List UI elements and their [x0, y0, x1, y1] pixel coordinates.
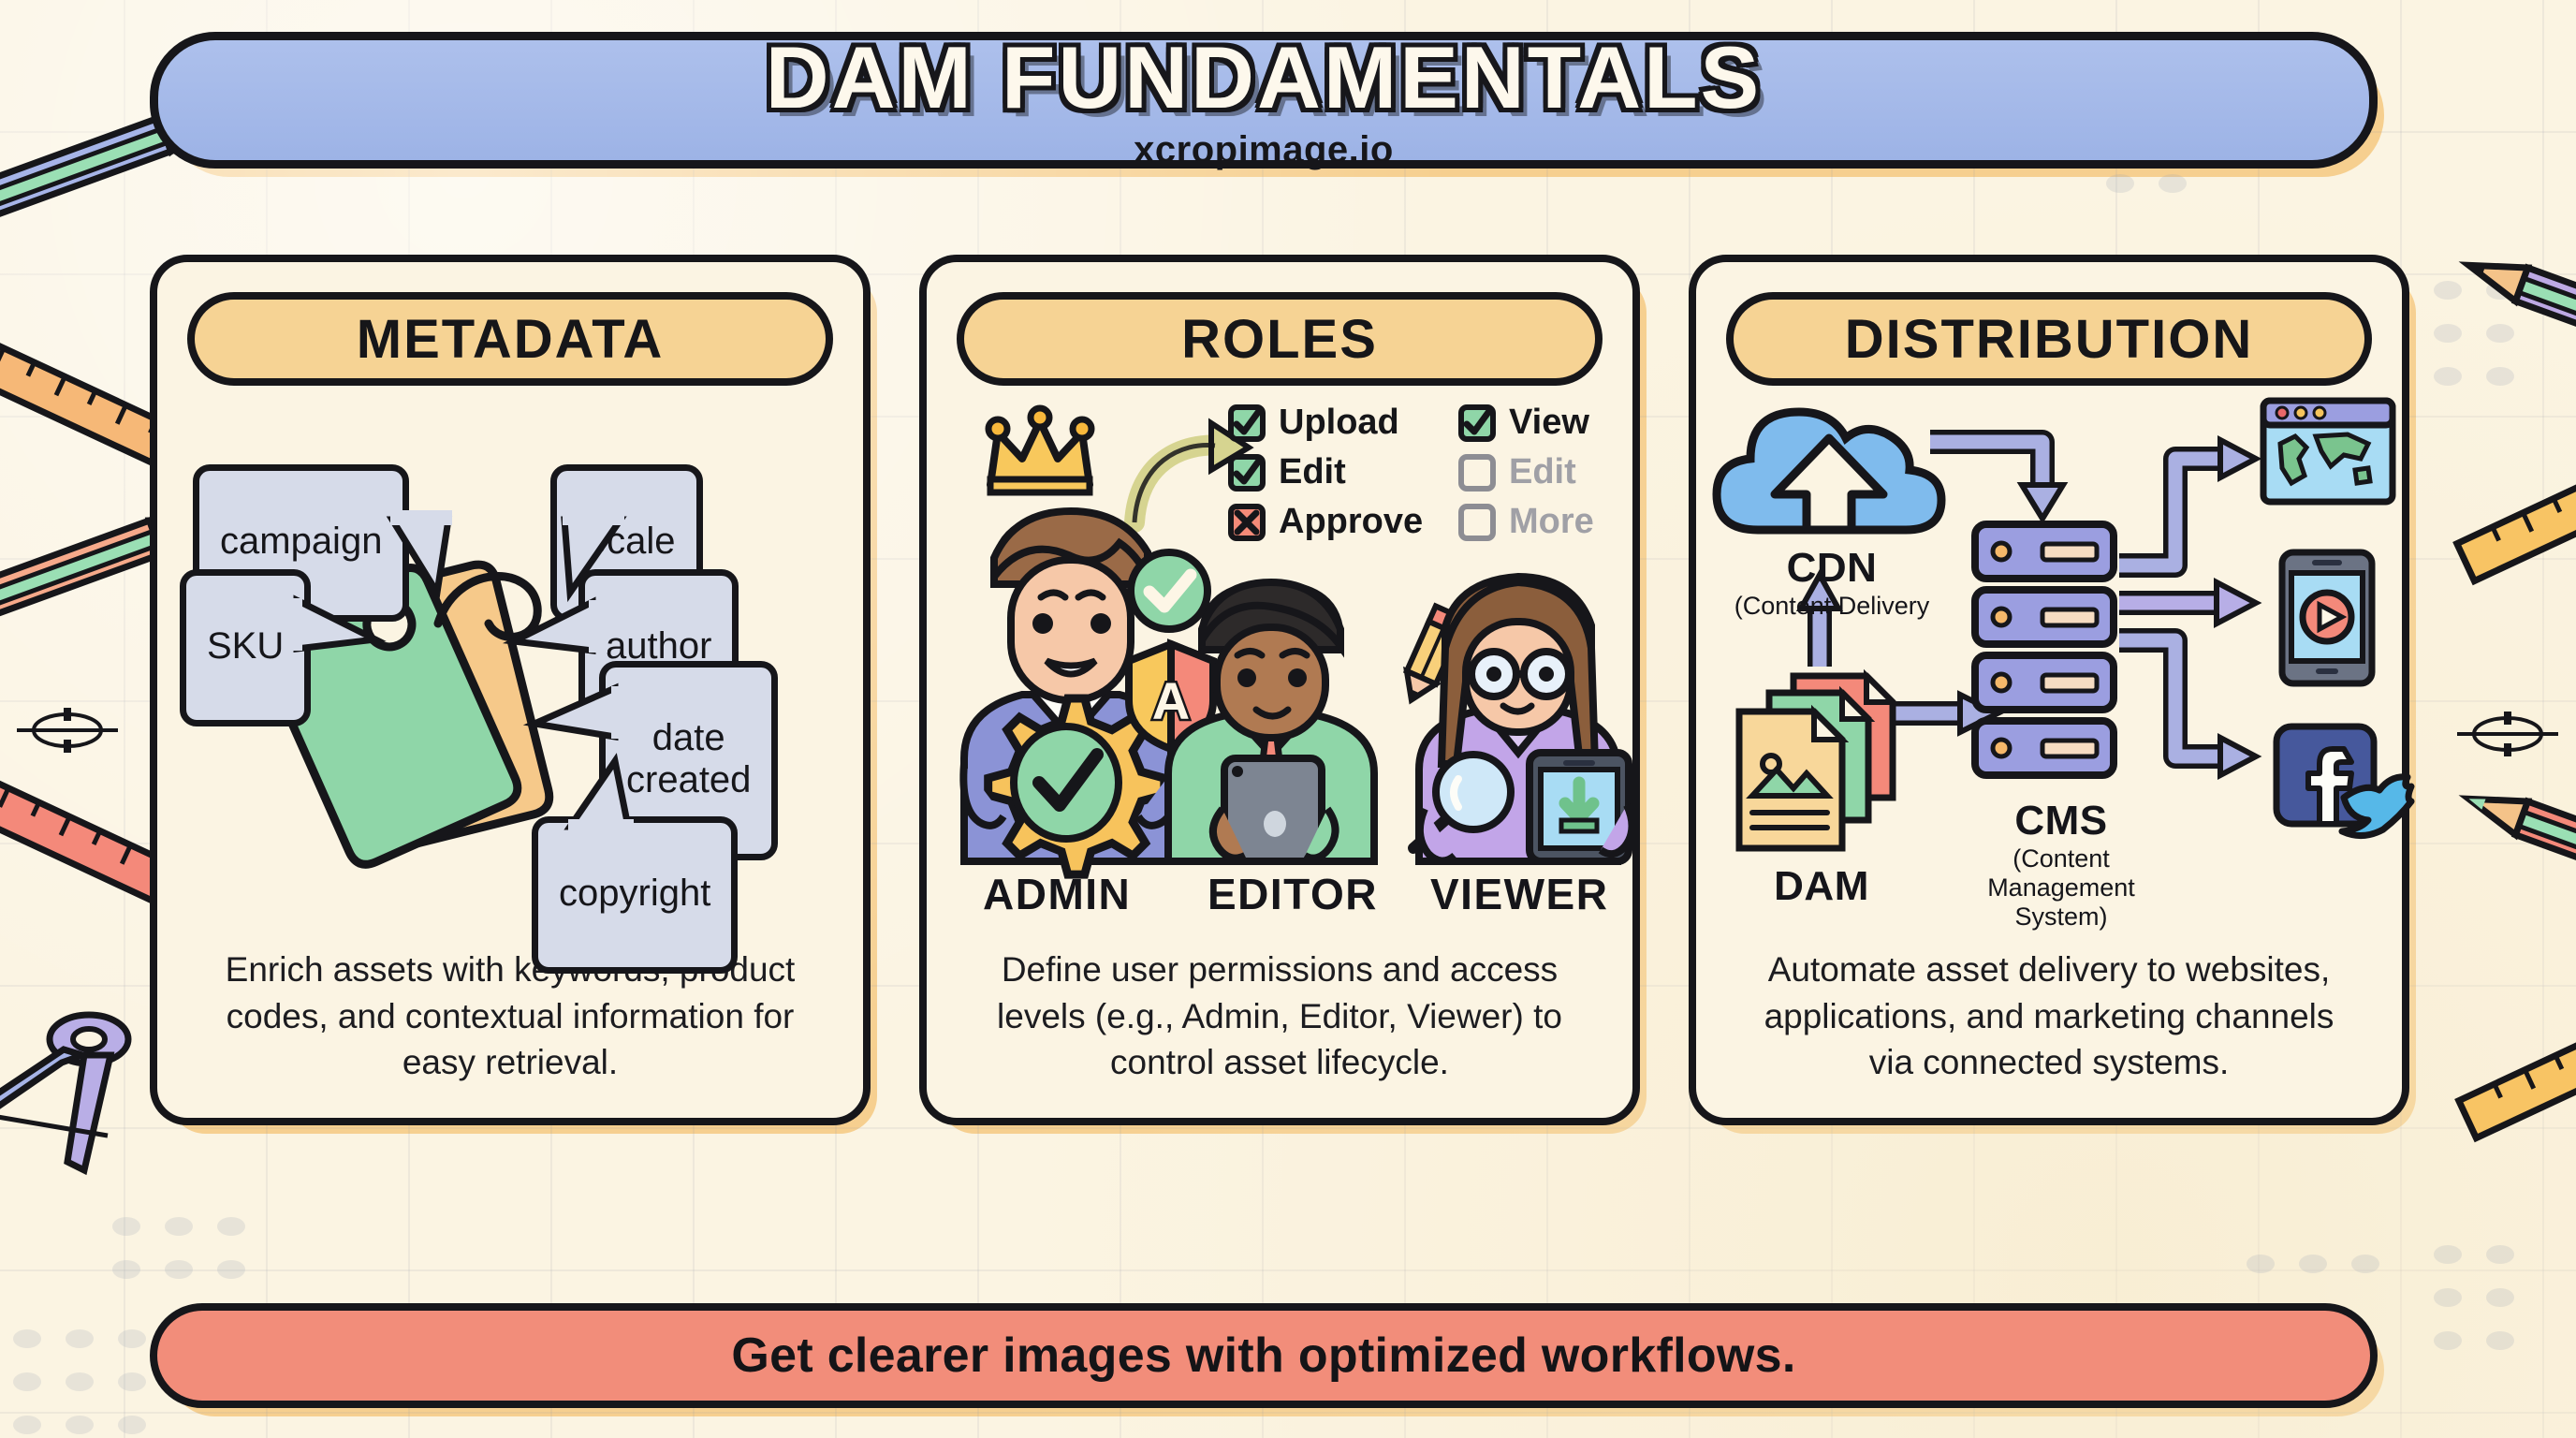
server-stack-icon — [1966, 519, 2123, 818]
browser-world-icon — [2258, 395, 2398, 507]
panel-title-metadata: METADATA — [187, 292, 833, 386]
editor-permissions: Upload Edit Approve — [1228, 403, 1423, 542]
viewer-permissions: View Edit More — [1458, 403, 1594, 542]
checkbox-checked-icon[interactable] — [1458, 404, 1496, 442]
permission-label: Approve — [1279, 502, 1423, 542]
role-label-editor: EDITOR — [1207, 869, 1378, 919]
distribution-illustration: CDN (Content Delivery — [1696, 386, 2402, 946]
header-banner: DAM FUNDAMENTALS xcropimage.io — [150, 32, 2378, 169]
cloud-upload-icon — [1709, 397, 1949, 547]
permission-row[interactable]: Approve — [1228, 502, 1423, 542]
checkbox-checked-icon[interactable] — [1228, 404, 1266, 442]
page-title: DAM FUNDAMENTALS — [766, 35, 1762, 121]
dot-cluster — [2434, 1245, 2514, 1350]
checkbox-checked-icon[interactable] — [1228, 454, 1266, 492]
role-label-admin: ADMIN — [983, 869, 1131, 919]
phone-video-icon — [2275, 547, 2379, 689]
node-label-cdn: CDN (Content Delivery — [1705, 545, 1958, 621]
permission-label: More — [1509, 502, 1594, 542]
panels-row: METADATA campaign — [150, 255, 2426, 1144]
panel-title-roles: ROLES — [957, 292, 1603, 386]
registration-target-icon — [17, 708, 118, 753]
crown-icon — [979, 406, 1101, 500]
panel-roles: ROLES — [919, 255, 1640, 1125]
node-label-cms: CMS (Content Management System) — [1968, 798, 2155, 932]
checkbox-denied-icon[interactable] — [1228, 504, 1266, 541]
viewer-avatar — [1397, 569, 1640, 861]
bubble-tail — [529, 684, 622, 754]
bubble-tail — [297, 594, 390, 664]
registration-target-icon — [2457, 712, 2558, 756]
panel-caption-distribution: Automate asset delivery to websites, app… — [1740, 946, 2358, 1086]
footer-banner: Get clearer images with optimized workfl… — [150, 1303, 2378, 1408]
asset-files-icon — [1726, 667, 1913, 861]
permission-label: View — [1509, 403, 1589, 443]
metadata-tag-copyright: copyright — [532, 816, 738, 974]
metadata-illustration: campaign locale SKU — [157, 386, 863, 946]
panel-title-distribution: DISTRIBUTION — [1726, 292, 2372, 386]
bubble-tail — [506, 596, 600, 666]
footer-text: Get clearer images with optimized workfl… — [731, 1328, 1795, 1384]
infographic-sheet: DAM FUNDAMENTALS xcropimage.io METADATA — [150, 32, 2426, 1408]
permission-row[interactable]: Edit — [1228, 452, 1423, 492]
panel-caption-roles: Define user permissions and access level… — [971, 946, 1588, 1086]
panel-metadata: METADATA campaign — [150, 255, 871, 1125]
permission-row[interactable]: Upload — [1228, 403, 1423, 443]
compass-purple-icon — [0, 997, 168, 1194]
permission-row[interactable]: More — [1458, 502, 1594, 542]
panel-distribution: DISTRIBUTION — [1689, 255, 2409, 1125]
permission-row[interactable]: View — [1458, 403, 1594, 443]
node-label-dam: DAM — [1728, 863, 1915, 910]
checkbox-unchecked-icon[interactable] — [1458, 454, 1496, 492]
bubble-tail — [564, 761, 649, 836]
permission-row[interactable]: Edit — [1458, 452, 1594, 492]
brand-label: xcropimage.io — [1134, 129, 1394, 171]
permission-label: Edit — [1509, 452, 1576, 492]
metadata-tag-sku: SKU — [180, 569, 311, 726]
dot-cluster — [13, 1329, 146, 1434]
facebook-twitter-icon — [2271, 721, 2424, 843]
bubble-tail — [387, 520, 471, 604]
checkbox-unchecked-icon[interactable] — [1458, 504, 1496, 541]
role-label-viewer: VIEWER — [1430, 869, 1608, 919]
roles-illustration: A — [927, 386, 1632, 946]
permission-label: Upload — [1279, 403, 1399, 443]
permission-label: Edit — [1279, 452, 1346, 492]
editor-avatar — [1144, 575, 1398, 861]
